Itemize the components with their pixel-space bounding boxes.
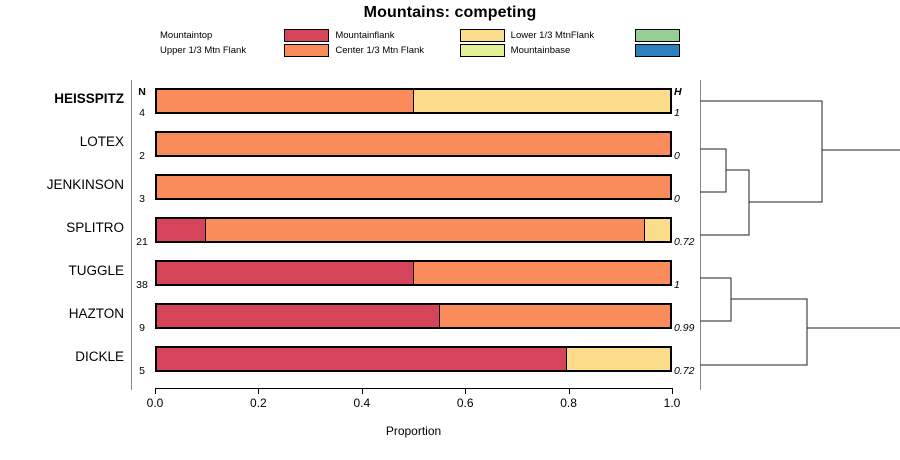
- column-header-h: H: [674, 86, 700, 98]
- panel-divider-left: [131, 80, 132, 390]
- chart-row: [155, 131, 672, 157]
- dendro-join-lotex-jenkinson: [720, 149, 726, 192]
- row-n-value: 38: [131, 279, 153, 291]
- row-label[interactable]: HEISSPITZ: [0, 91, 124, 106]
- legend-item[interactable]: Upper 1/3 Mtn Flank: [160, 43, 329, 58]
- stacked-bar[interactable]: [155, 346, 672, 372]
- x-axis-tick: [465, 388, 466, 394]
- row-n-value: 21: [131, 236, 153, 248]
- chart-canvas: Mountains: competing MountaintopUpper 1/…: [0, 0, 900, 460]
- page-title: Mountains: competing: [0, 4, 900, 22]
- x-axis-tick-label: 0.8: [544, 396, 594, 410]
- dendro-join-b: [720, 170, 749, 235]
- stacked-bar[interactable]: [155, 217, 672, 243]
- chart-row: [155, 217, 672, 243]
- legend-color-swatch: [284, 29, 329, 42]
- row-n-value: 3: [131, 193, 153, 205]
- bar-segment[interactable]: [414, 262, 671, 284]
- row-n-value: 2: [131, 150, 153, 162]
- legend-item-label: Center 1/3 Mtn Flank: [335, 43, 455, 58]
- row-h-value: 1: [674, 279, 700, 291]
- row-h-value: 0.72: [674, 236, 700, 248]
- x-axis-tick-label: 0.6: [440, 396, 490, 410]
- bar-segment[interactable]: [157, 305, 440, 327]
- x-axis-tick: [362, 388, 363, 394]
- dendrogram: [700, 80, 900, 390]
- legend-item-label: Upper 1/3 Mtn Flank: [160, 43, 280, 58]
- legend-item[interactable]: Mountaintop: [160, 28, 329, 43]
- legend-item-label: Mountaintop: [160, 28, 280, 43]
- x-axis-tick: [258, 388, 259, 394]
- row-label[interactable]: SPLITRO: [0, 220, 124, 235]
- dendro-join-tuggle-hazton: [720, 278, 731, 321]
- row-label[interactable]: LOTEX: [0, 134, 124, 149]
- legend-color-swatch: [460, 44, 505, 57]
- bar-segment[interactable]: [157, 133, 670, 155]
- x-axis-tick-label: 0.0: [130, 396, 180, 410]
- chart-row: [155, 88, 672, 114]
- chart-row: [155, 260, 672, 286]
- legend: MountaintopUpper 1/3 Mtn FlankMountainfl…: [160, 28, 680, 58]
- legend-item-label: Lower 1/3 MtnFlank: [511, 28, 631, 43]
- x-axis-tick-label: 0.4: [337, 396, 387, 410]
- x-axis-tick: [672, 388, 673, 394]
- bar-segment[interactable]: [157, 262, 414, 284]
- row-h-value: 1: [674, 107, 700, 119]
- stacked-bar[interactable]: [155, 260, 672, 286]
- row-h-value: 0: [674, 193, 700, 205]
- stacked-bar-plot: [155, 88, 672, 385]
- legend-item-label: Mountainflank: [335, 28, 455, 43]
- legend-color-swatch: [635, 29, 680, 42]
- legend-item[interactable]: Center 1/3 Mtn Flank: [335, 43, 504, 58]
- row-n-value: 4: [131, 107, 153, 119]
- legend-color-swatch: [635, 44, 680, 57]
- chart-row: [155, 303, 672, 329]
- row-h-value: 0.72: [674, 365, 700, 377]
- x-axis-title: Proportion: [155, 424, 672, 438]
- bar-segment[interactable]: [157, 348, 567, 370]
- legend-item-label: Mountainbase: [511, 43, 631, 58]
- row-label[interactable]: TUGGLE: [0, 263, 124, 278]
- bar-segment[interactable]: [645, 219, 670, 241]
- legend-item[interactable]: Lower 1/3 MtnFlank: [511, 28, 680, 43]
- legend-item[interactable]: Mountainflank: [335, 28, 504, 43]
- chart-row: [155, 174, 672, 200]
- legend-color-swatch: [284, 44, 329, 57]
- x-axis-tick: [155, 388, 156, 394]
- bar-segment[interactable]: [157, 219, 206, 241]
- stacked-bar[interactable]: [155, 88, 672, 114]
- x-axis-tick: [569, 388, 570, 394]
- row-n-value: 5: [131, 365, 153, 377]
- dendro-join-root: [807, 150, 900, 328]
- stacked-bar[interactable]: [155, 303, 672, 329]
- dendrogram-svg: [700, 80, 900, 390]
- chart-row: [155, 346, 672, 372]
- row-label[interactable]: DICKLE: [0, 349, 124, 364]
- bar-segment[interactable]: [440, 305, 670, 327]
- stacked-bar[interactable]: [155, 174, 672, 200]
- bar-segment[interactable]: [567, 348, 670, 370]
- x-axis-tick-label: 1.0: [647, 396, 697, 410]
- legend-item[interactable]: Mountainbase: [511, 43, 680, 58]
- bar-segment[interactable]: [157, 90, 414, 112]
- dendro-join-c: [720, 101, 822, 202]
- x-axis-tick-label: 0.2: [233, 396, 283, 410]
- x-axis-line: [155, 388, 672, 389]
- bar-segment[interactable]: [157, 176, 670, 198]
- bar-segment[interactable]: [414, 90, 671, 112]
- bar-segment[interactable]: [206, 219, 646, 241]
- row-n-value: 9: [131, 322, 153, 334]
- row-h-value: 0: [674, 150, 700, 162]
- stacked-bar[interactable]: [155, 131, 672, 157]
- row-h-value: 0.99: [674, 322, 700, 334]
- row-label[interactable]: JENKINSON: [0, 177, 124, 192]
- column-header-n: N: [131, 86, 153, 98]
- dendro-join-e: [720, 299, 807, 365]
- row-label[interactable]: HAZTON: [0, 306, 124, 321]
- legend-color-swatch: [460, 29, 505, 42]
